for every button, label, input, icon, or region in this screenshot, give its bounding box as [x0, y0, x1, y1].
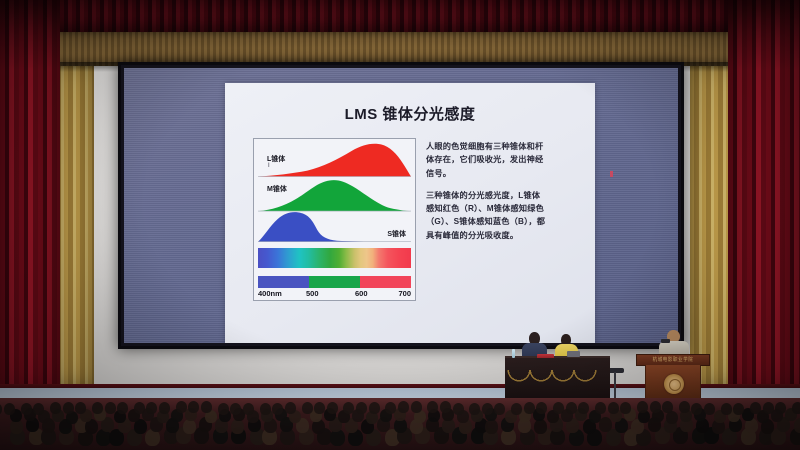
audience-head	[285, 402, 296, 414]
audience-head	[117, 402, 128, 414]
screen-red-marker	[610, 171, 613, 177]
equipment-stand-pole	[614, 372, 616, 400]
audience-head	[511, 403, 522, 415]
audience-head	[440, 401, 451, 413]
audience-head	[183, 419, 196, 434]
audience-head	[578, 402, 589, 414]
band-red	[360, 276, 411, 288]
wooden-valance	[0, 28, 800, 66]
audience-head	[662, 401, 673, 413]
audience-head	[763, 402, 774, 414]
audience-head	[188, 401, 199, 413]
audience-head	[314, 402, 325, 414]
audience-head	[385, 402, 396, 414]
audience-head	[327, 402, 338, 414]
audience-head	[453, 403, 464, 415]
audience-head	[21, 403, 32, 415]
audience-head	[272, 403, 283, 415]
audience-head	[4, 403, 15, 415]
audience-head	[343, 402, 354, 414]
audience-head	[146, 402, 157, 414]
table-cloth-swag-trim	[507, 370, 608, 386]
red-curtain-top-swag	[0, 0, 800, 32]
audience-head	[524, 402, 535, 414]
audience-head	[733, 403, 744, 415]
lms-sensitivity-chart: L锥体 I M锥体 S锥体 400nm	[253, 138, 416, 301]
axis-tick-400: 400nm	[258, 289, 282, 298]
podium-emblem	[664, 374, 684, 394]
audience-head	[33, 403, 44, 415]
slide-paragraph-2: 三种锥体的分光感光度，L锥体感知红色（R）、M锥体感知绿色（G）、S锥体感知蓝色…	[426, 189, 548, 242]
audience-head	[0, 403, 2, 415]
audience-head	[721, 403, 732, 415]
audience-head	[92, 402, 103, 414]
audience-head	[230, 403, 241, 415]
slide-text-column: 人眼的色觉细胞有三种锥体和杆体存在，它们吸收光，发出神经信号。 三种锥体的分光感…	[426, 138, 548, 301]
audience-head	[231, 419, 244, 434]
auditorium-scene: LMS 锥体分光感度	[0, 0, 800, 450]
audience-head	[534, 419, 547, 434]
audience-head	[159, 402, 170, 414]
slide-title: LMS 锥体分光感度	[225, 103, 595, 124]
audience-head	[679, 401, 690, 413]
projection-screen: LMS 锥体分光感度	[118, 62, 684, 349]
cone-curves-panel: L锥体 I M锥体 S锥体	[258, 143, 411, 246]
audience-head	[411, 401, 422, 413]
slide-body: L锥体 I M锥体 S锥体 400nm	[225, 138, 595, 301]
axis-tick-700: 700	[398, 289, 411, 298]
audience-head	[427, 401, 438, 413]
audience-head	[750, 402, 761, 414]
axis-tick-600: 600	[355, 289, 368, 298]
audience-head	[566, 402, 577, 414]
l-cone-tick-mark: I	[268, 163, 270, 169]
audience-head	[691, 403, 702, 415]
audience-head	[482, 403, 493, 415]
rgb-band-bar	[258, 276, 411, 288]
presentation-slide: LMS 锥体分光感度	[225, 83, 595, 343]
podium-microphone	[661, 339, 670, 343]
audience-head	[176, 401, 187, 413]
axis-tick-500: 500	[306, 289, 319, 298]
audience-head	[218, 403, 229, 415]
laptop	[567, 351, 580, 357]
podium-body	[645, 365, 701, 400]
podium: 杭城电影职业学院	[636, 330, 710, 400]
audience-head	[469, 403, 480, 415]
audience-head	[369, 402, 380, 414]
audience-head	[637, 401, 648, 413]
wavelength-axis: 400nm 500 600 700	[258, 289, 411, 300]
audience-head	[595, 402, 606, 414]
audience-head	[201, 401, 212, 413]
audience-head	[145, 429, 160, 446]
audience-head	[75, 402, 86, 414]
audience-head	[63, 402, 74, 414]
audience	[0, 398, 800, 450]
audience-head	[553, 402, 564, 414]
screen-surface: LMS 锥体分光感度	[124, 68, 678, 343]
red-curtain-right	[728, 0, 800, 400]
audience-head	[50, 402, 61, 414]
visible-spectrum-bar	[258, 248, 411, 268]
m-cone-label: M锥体	[267, 184, 287, 194]
audience-head	[243, 403, 254, 415]
audience-head	[260, 403, 271, 415]
audience-head	[302, 402, 313, 414]
audience-head	[398, 401, 409, 413]
audience-head	[134, 402, 145, 414]
podium-sign-text: 杭城电影职业学院	[653, 357, 694, 364]
audience-head	[775, 402, 786, 414]
band-blue	[258, 276, 309, 288]
presenters-table	[505, 348, 610, 400]
audience-head	[650, 401, 661, 413]
audience-head	[494, 403, 505, 415]
audience-head	[704, 403, 715, 415]
s-cone-label: S锥体	[387, 229, 406, 239]
audience-head	[356, 402, 367, 414]
red-curtain-left	[0, 0, 60, 400]
audience-head	[794, 418, 800, 433]
audience-head	[536, 402, 547, 414]
audience-head	[792, 402, 800, 414]
water-bottle	[512, 349, 515, 358]
audience-head	[608, 402, 619, 414]
slide-paragraph-1: 人眼的色觉细胞有三种锥体和杆体存在，它们吸收光，发出神经信号。	[426, 140, 548, 180]
band-green	[309, 276, 360, 288]
audience-head	[105, 402, 116, 414]
audience-head	[620, 402, 631, 414]
